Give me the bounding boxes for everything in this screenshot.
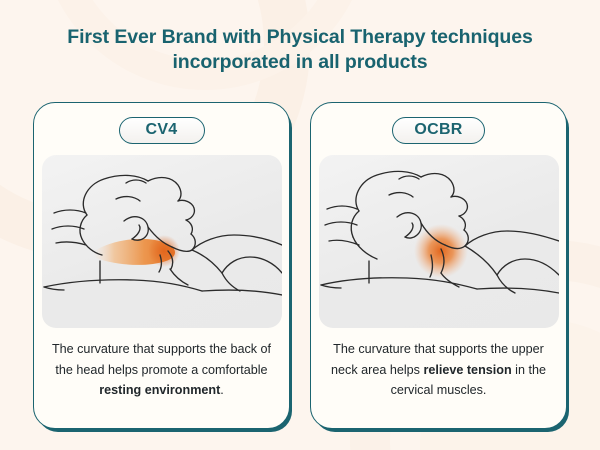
product-card-ocbr[interactable]: OCBR bbox=[310, 102, 567, 429]
page-title: First Ever Brand with Physical Therapy t… bbox=[0, 25, 600, 75]
card-caption-ocbr: The curvature that supports the upper ne… bbox=[325, 339, 553, 401]
card-badge-ocbr: OCBR bbox=[392, 117, 484, 144]
caption-segment: The curvature that supports the back of … bbox=[52, 342, 271, 377]
caption-segment: . bbox=[220, 383, 224, 397]
page-title-line-2: incorporated in all products bbox=[0, 50, 600, 75]
illustration-cv4 bbox=[42, 155, 282, 328]
product-card-cv4[interactable]: CV4 bbox=[33, 102, 290, 429]
illustration-panel-cv4 bbox=[42, 155, 282, 328]
card-caption-cv4: The curvature that supports the back of … bbox=[48, 339, 276, 401]
card-list: CV4 bbox=[33, 102, 567, 429]
card-badge-cv4: CV4 bbox=[119, 117, 205, 144]
highlight-glow bbox=[414, 224, 468, 278]
illustration-ocbr bbox=[319, 155, 559, 328]
caption-segment-bold: resting environment bbox=[99, 383, 220, 397]
caption-segment-bold: relieve tension bbox=[423, 363, 511, 377]
page-title-line-1: First Ever Brand with Physical Therapy t… bbox=[0, 25, 600, 50]
highlight-tip bbox=[148, 235, 180, 267]
illustration-panel-ocbr bbox=[319, 155, 559, 328]
